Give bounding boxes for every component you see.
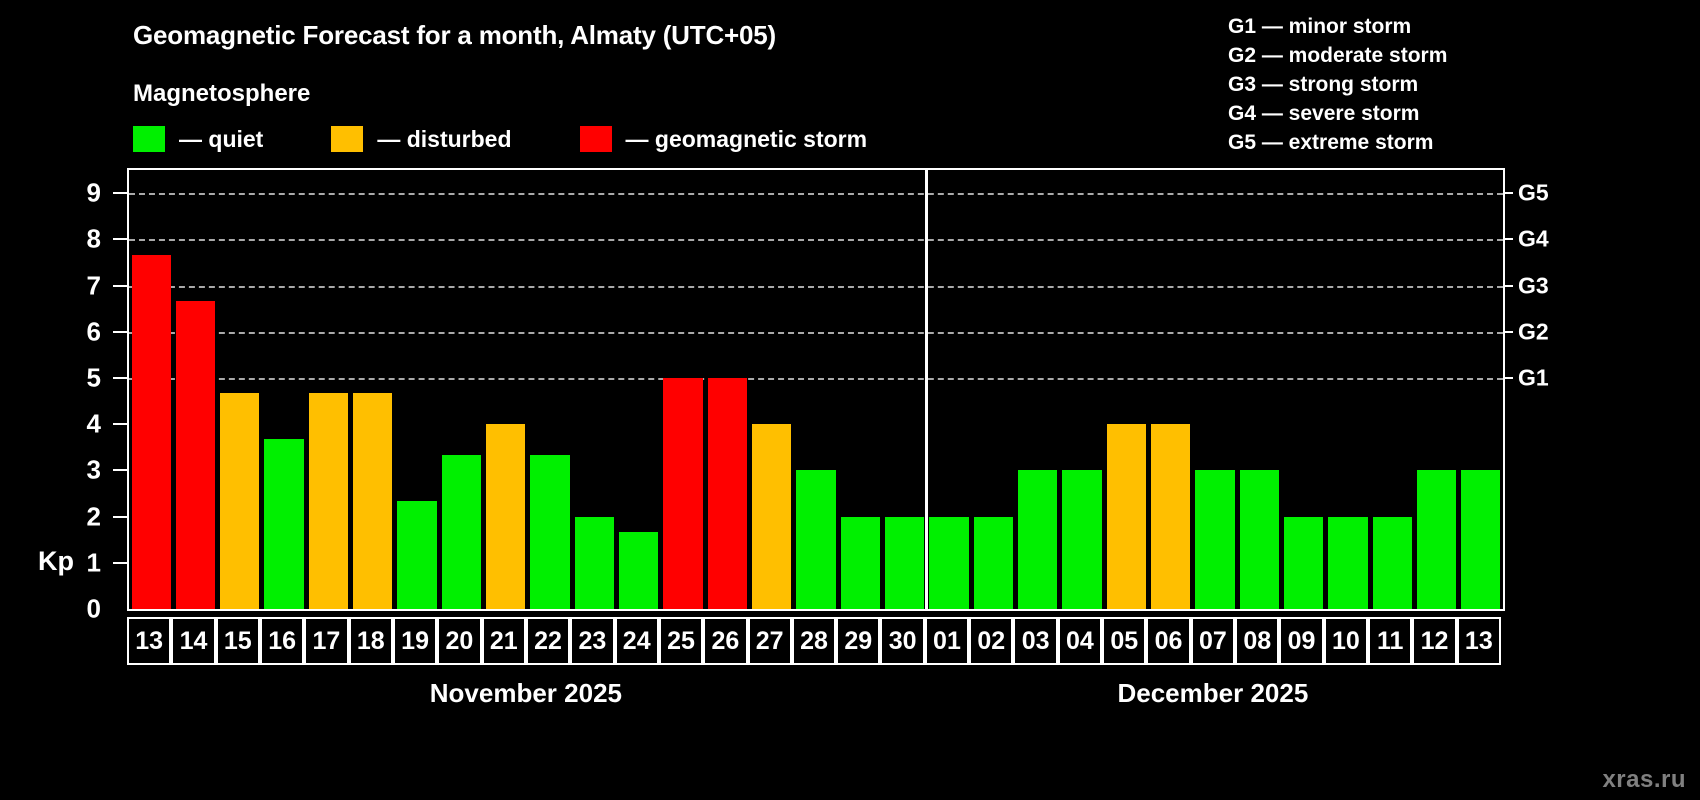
legend-swatch-quiet-icon <box>133 126 165 152</box>
g-axis-label-G1: G1 <box>1518 364 1549 391</box>
g-tick-mark-G5 <box>1505 192 1513 194</box>
g-axis-label-G2: G2 <box>1518 318 1549 345</box>
y-tick-label-6: 6 <box>87 316 101 347</box>
day-label-november-29[interactable]: 29 <box>836 617 880 665</box>
month-label-1: December 2025 <box>1117 678 1308 709</box>
y-tick-mark-9 <box>113 192 127 194</box>
bar-04[interactable] <box>1062 470 1101 609</box>
g-axis-label-G4: G4 <box>1518 226 1549 253</box>
y-tick-label-8: 8 <box>87 224 101 255</box>
g-tick-mark-G3 <box>1505 285 1513 287</box>
day-label-november-13[interactable]: 13 <box>127 617 171 665</box>
gscale-item-3: G3 — strong storm <box>1228 70 1447 99</box>
month-label-0: November 2025 <box>430 678 622 709</box>
legend-item-disturbed: — disturbed <box>331 126 511 153</box>
y-tick-mark-1 <box>113 562 127 564</box>
bar-06[interactable] <box>1151 424 1190 609</box>
g-axis-label-G3: G3 <box>1518 272 1549 299</box>
legend-item-storm: — geomagnetic storm <box>580 126 868 153</box>
bar-28[interactable] <box>796 470 835 609</box>
day-label-december-13[interactable]: 13 <box>1457 617 1501 665</box>
day-label-november-22[interactable]: 22 <box>526 617 570 665</box>
day-label-december-02[interactable]: 02 <box>969 617 1013 665</box>
bar-05[interactable] <box>1107 424 1146 609</box>
y-axis-title: Kp <box>38 546 74 577</box>
legend-label-quiet: — quiet <box>179 126 263 153</box>
bar-03[interactable] <box>1018 470 1057 609</box>
day-label-december-07[interactable]: 07 <box>1191 617 1235 665</box>
bar-19[interactable] <box>397 501 436 609</box>
gscale-item-2: G2 — moderate storm <box>1228 41 1447 70</box>
bar-17[interactable] <box>309 393 348 609</box>
bar-21[interactable] <box>486 424 525 609</box>
g-scale-axis: G1G2G3G4G5 <box>1505 168 1595 611</box>
bar-07[interactable] <box>1195 470 1234 609</box>
legend-label-storm: — geomagnetic storm <box>626 126 868 153</box>
bar-02[interactable] <box>974 517 1013 609</box>
legend-item-quiet: — quiet <box>133 126 263 153</box>
g-tick-mark-G4 <box>1505 238 1513 240</box>
y-tick-mark-4 <box>113 423 127 425</box>
day-label-december-12[interactable]: 12 <box>1412 617 1456 665</box>
day-label-december-10[interactable]: 10 <box>1324 617 1368 665</box>
magnetosphere-label: Magnetosphere <box>133 80 310 108</box>
y-tick-label-3: 3 <box>87 455 101 486</box>
y-axis: Kp 0123456789 <box>0 168 127 611</box>
gscale-item-4: G4 — severe storm <box>1228 99 1447 128</box>
day-label-november-20[interactable]: 20 <box>437 617 481 665</box>
day-labels-row: 1314151617181920212223242526272829300102… <box>127 617 1505 665</box>
day-label-december-04[interactable]: 04 <box>1058 617 1102 665</box>
y-tick-mark-3 <box>113 469 127 471</box>
gscale-legend: G1 — minor stormG2 — moderate stormG3 — … <box>1228 12 1447 157</box>
bar-27[interactable] <box>752 424 791 609</box>
legend-label-disturbed: — disturbed <box>377 126 511 153</box>
bar-18[interactable] <box>353 393 392 609</box>
day-label-november-30[interactable]: 30 <box>880 617 924 665</box>
day-label-november-25[interactable]: 25 <box>659 617 703 665</box>
y-tick-label-1: 1 <box>87 547 101 578</box>
gscale-item-1: G1 — minor storm <box>1228 12 1447 41</box>
bar-23[interactable] <box>575 517 614 609</box>
day-label-november-23[interactable]: 23 <box>570 617 614 665</box>
bar-13[interactable] <box>1461 470 1500 609</box>
bar-13[interactable] <box>132 255 171 609</box>
legend-swatch-disturbed-icon <box>331 126 363 152</box>
day-label-november-28[interactable]: 28 <box>792 617 836 665</box>
bars-layer <box>129 170 1503 609</box>
day-label-december-08[interactable]: 08 <box>1235 617 1279 665</box>
gscale-item-5: G5 — extreme storm <box>1228 128 1447 157</box>
y-tick-label-5: 5 <box>87 362 101 393</box>
day-label-november-26[interactable]: 26 <box>703 617 747 665</box>
day-label-november-19[interactable]: 19 <box>393 617 437 665</box>
day-label-december-05[interactable]: 05 <box>1102 617 1146 665</box>
day-label-november-17[interactable]: 17 <box>304 617 348 665</box>
y-tick-mark-5 <box>113 377 127 379</box>
bar-11[interactable] <box>1373 517 1412 609</box>
day-label-november-27[interactable]: 27 <box>748 617 792 665</box>
bar-24[interactable] <box>619 532 658 609</box>
watermark: xras.ru <box>1602 766 1686 794</box>
bar-26[interactable] <box>708 378 747 609</box>
g-tick-mark-G1 <box>1505 377 1513 379</box>
month-divider <box>925 170 928 609</box>
bar-01[interactable] <box>929 517 968 609</box>
bar-10[interactable] <box>1328 517 1367 609</box>
chart-root: Geomagnetic Forecast for a month, Almaty… <box>0 0 1700 800</box>
y-tick-label-4: 4 <box>87 409 101 440</box>
bar-09[interactable] <box>1284 517 1323 609</box>
bar-20[interactable] <box>442 455 481 609</box>
day-label-november-18[interactable]: 18 <box>349 617 393 665</box>
day-label-december-01[interactable]: 01 <box>925 617 969 665</box>
g-axis-label-G5: G5 <box>1518 180 1549 207</box>
plot-area <box>127 168 1505 611</box>
y-tick-mark-8 <box>113 238 127 240</box>
bar-14[interactable] <box>176 301 215 609</box>
day-label-november-14[interactable]: 14 <box>171 617 215 665</box>
day-label-december-09[interactable]: 09 <box>1279 617 1323 665</box>
bar-30[interactable] <box>885 517 924 609</box>
day-label-november-15[interactable]: 15 <box>216 617 260 665</box>
bar-15[interactable] <box>220 393 259 609</box>
legend-swatch-storm-icon <box>580 126 612 152</box>
magnetosphere-legend: — quiet— disturbed— geomagnetic storm <box>133 124 867 154</box>
day-label-december-06[interactable]: 06 <box>1146 617 1190 665</box>
bar-16[interactable] <box>264 439 303 609</box>
y-tick-label-9: 9 <box>87 178 101 209</box>
bar-29[interactable] <box>841 517 880 609</box>
y-tick-label-2: 2 <box>87 501 101 532</box>
y-tick-label-7: 7 <box>87 270 101 301</box>
page-title: Geomagnetic Forecast for a month, Almaty… <box>133 20 776 51</box>
bar-08[interactable] <box>1240 470 1279 609</box>
y-tick-label-0: 0 <box>87 594 101 625</box>
y-tick-mark-6 <box>113 331 127 333</box>
day-label-november-16[interactable]: 16 <box>260 617 304 665</box>
bar-22[interactable] <box>530 455 569 609</box>
bar-12[interactable] <box>1417 470 1456 609</box>
bar-25[interactable] <box>663 378 702 609</box>
day-label-december-03[interactable]: 03 <box>1013 617 1057 665</box>
y-tick-mark-2 <box>113 516 127 518</box>
g-tick-mark-G2 <box>1505 331 1513 333</box>
day-label-november-24[interactable]: 24 <box>615 617 659 665</box>
day-label-november-21[interactable]: 21 <box>482 617 526 665</box>
day-label-december-11[interactable]: 11 <box>1368 617 1412 665</box>
y-tick-mark-7 <box>113 285 127 287</box>
